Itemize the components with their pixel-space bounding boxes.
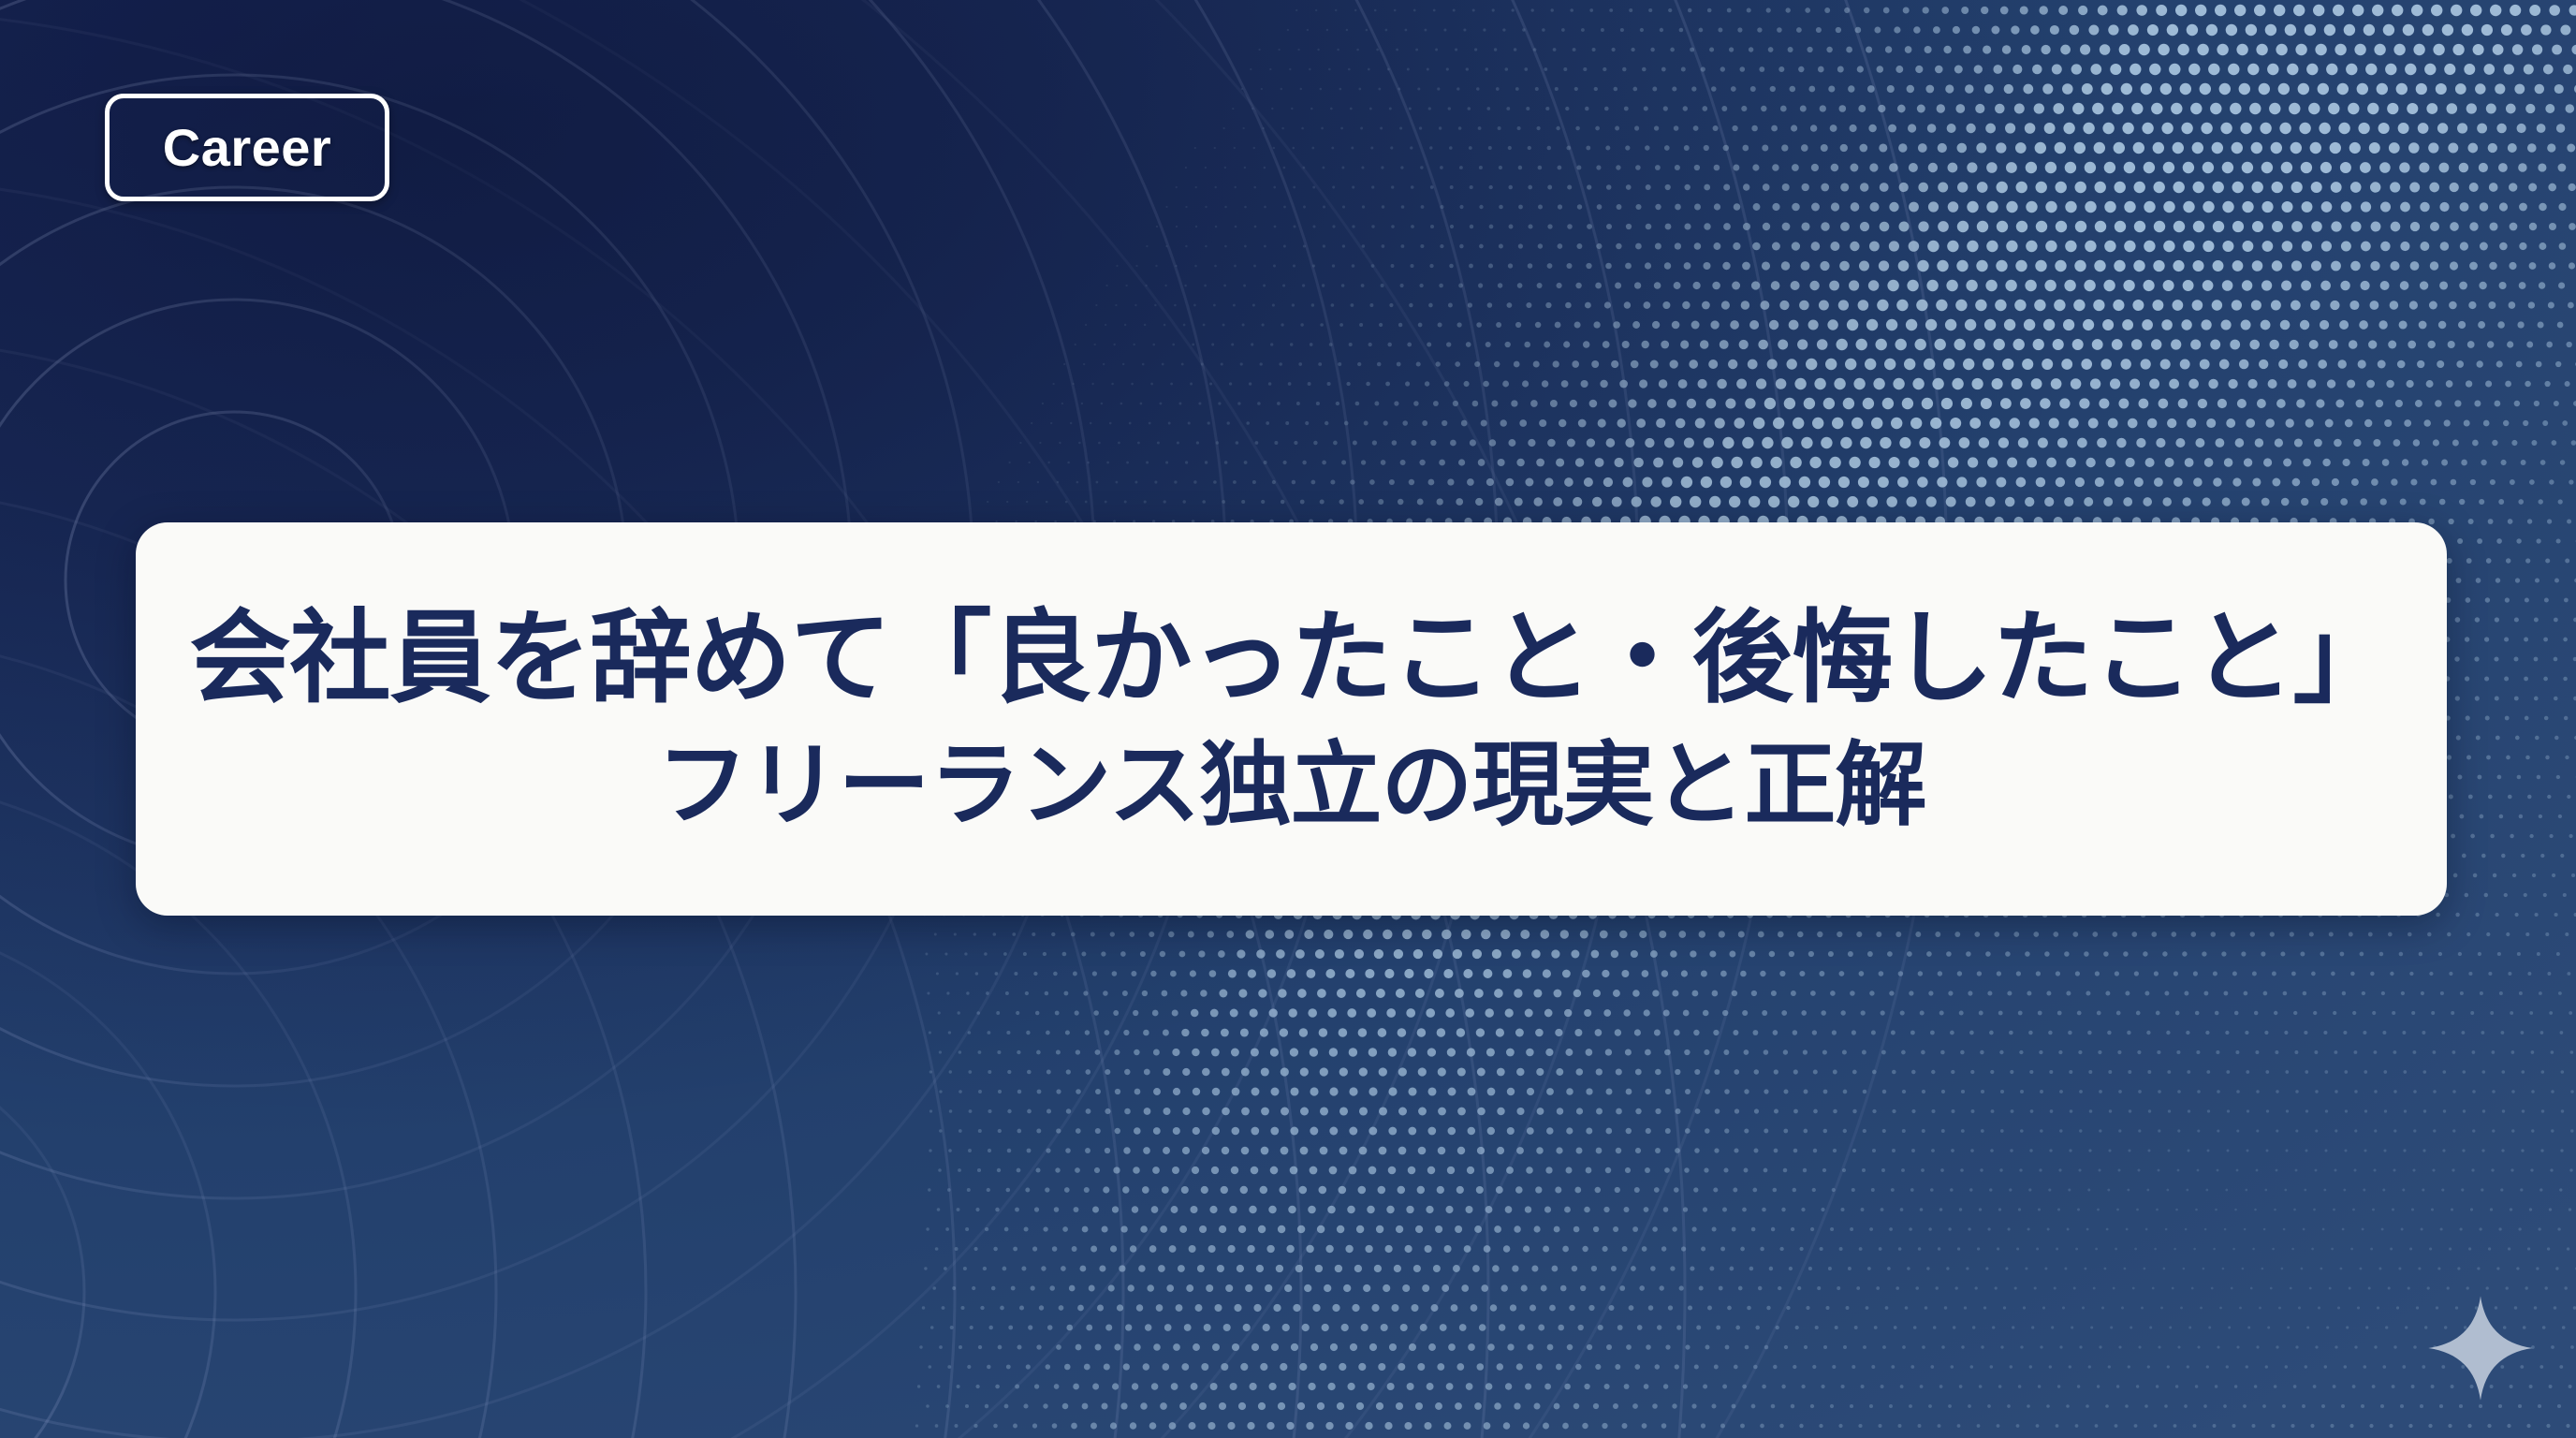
sparkle-icon bbox=[2426, 1294, 2535, 1402]
title-line-secondary: フリーランス独立の現実と正解 bbox=[656, 729, 1925, 842]
category-badge[interactable]: Career bbox=[105, 94, 389, 201]
category-badge-label: Career bbox=[163, 122, 331, 174]
thumbnail-canvas: Career 会社員を辞めて「良かったこと・後悔したこと」 フリーランス独立の現… bbox=[0, 0, 2576, 1438]
title-line-primary: 会社員を辞めて「良かったこと・後悔したこと」 bbox=[190, 596, 2393, 720]
title-card: 会社員を辞めて「良かったこと・後悔したこと」 フリーランス独立の現実と正解 bbox=[136, 522, 2447, 916]
